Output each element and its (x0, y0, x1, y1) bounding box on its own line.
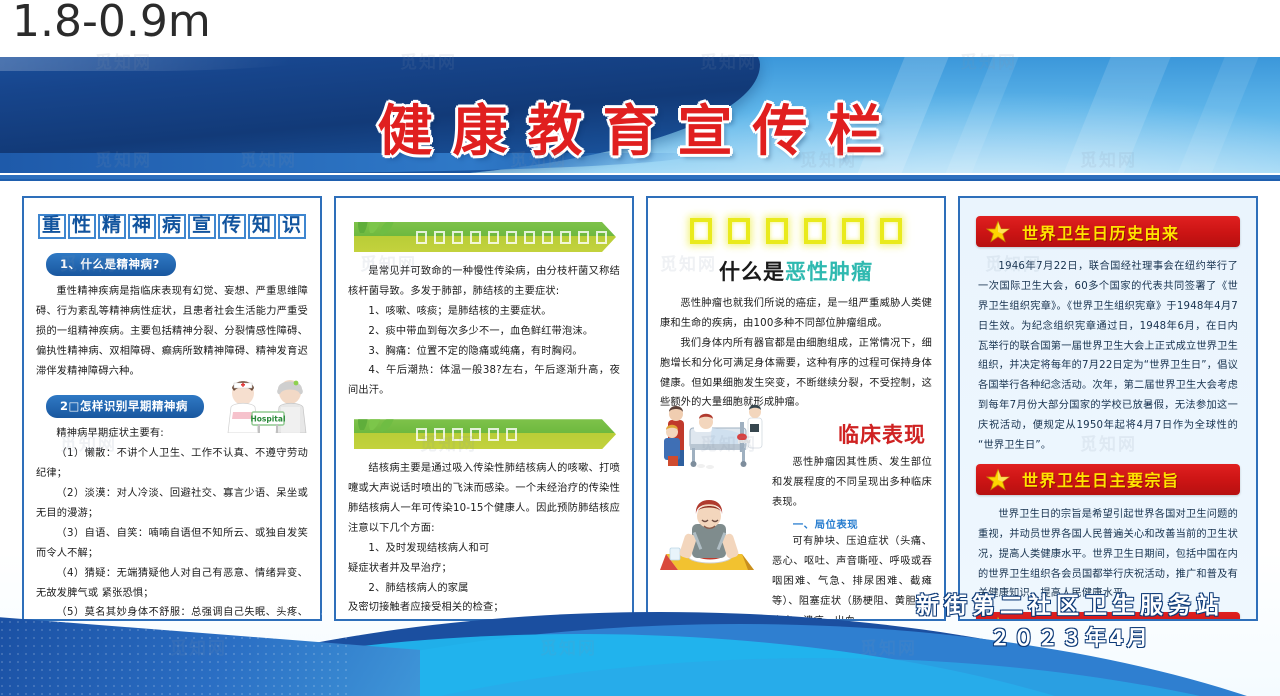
yellow-tofu-heading (660, 218, 932, 244)
nurse-doctor-hospital-sign-illustration: Hospital (218, 371, 314, 433)
panel-world-health-day: 世界卫生日历史由来 1946年7月22日，联合国经社理事会在纽约举行了一次国际卫… (958, 196, 1258, 621)
tofu-glyph (434, 231, 445, 244)
banner-label: 世界卫生日主要宗旨 (1022, 467, 1180, 491)
leaf-icon (350, 207, 406, 237)
clinical-intro: 恶性肿瘤因其性质、发生部位和发展程度的不同呈现出多种临床表现。 (772, 453, 932, 513)
tofu-glyph-yellow (690, 218, 712, 244)
tofu-glyph (524, 231, 535, 244)
title-char: 性 (68, 214, 96, 239)
title-char: 重 (38, 214, 66, 239)
title-char: 识 (278, 214, 306, 239)
panel-mental-illness: 重性精神病宣传知识 1、什么是精神病? 重性精神疾病是指临床表现有幻觉、妄想、严… (22, 196, 322, 621)
tofu-glyph (416, 231, 427, 244)
section-1-paragraph: 重性精神疾病是指临床表现有幻觉、妄想、严重思维障碍、行为紊乱等精神病性症状，且患… (36, 282, 308, 381)
title-char: 神 (128, 214, 156, 239)
title-prefix: 什么是 (719, 260, 785, 284)
tofu-glyph (452, 428, 463, 441)
tb-intro-paragraph: 是常见并可致命的一种慢性传染病，由分枝杆菌又称结核杆菌导致。多发于肺部，肺结核的… (348, 262, 620, 302)
tofu-glyph (488, 428, 499, 441)
tb-symptom-item: 2、痰中带血到每次多少不一，血色鲜红带泡沫。 (348, 322, 620, 342)
star-icon (986, 468, 1010, 492)
tofu-glyph (452, 231, 463, 244)
tofu-glyph-yellow (804, 218, 826, 244)
symptom-item: （1）懒散：不讲个人卫生、工作不认真、不遵守劳动纪律； (36, 444, 308, 484)
panel-3-title: 什么是恶性肿瘤 (660, 256, 932, 286)
tofu-glyph (488, 231, 499, 244)
dimension-caption: 1.8-0.9m (12, 0, 211, 47)
title-char: 宣 (188, 214, 216, 239)
swoosh-gloss (0, 57, 460, 71)
tofu-glyph (506, 231, 517, 244)
title-char: 精 (98, 214, 126, 239)
title-char: 传 (218, 214, 246, 239)
red-banner-purpose: 世界卫生日主要宗旨 (976, 464, 1240, 495)
hospital-bedside-visit-illustration (654, 394, 766, 472)
green-banner-symptoms (354, 222, 616, 252)
tb-prevention-paragraph: 结核病主要是通过吸入传染性肺结核病人的咳嗽、打喷嚏或大声说话时喷出的飞沫而感染。… (348, 459, 620, 539)
banner-tofu-glyphs (416, 231, 607, 244)
title-accent: 恶性肿瘤 (785, 260, 873, 284)
red-banner-history: 世界卫生日历史由来 (976, 216, 1240, 247)
banner-label: 世界卫生日历史由来 (1022, 220, 1180, 244)
footer-organization: 新街第二社区卫生服务站 ２０２３年4月 (916, 586, 1224, 652)
symptom-item: （2）淡漠：对人冷淡、回避社交、寡言少语、呆坐或无目的漫游； (36, 484, 308, 524)
banner-tofu-glyphs (416, 428, 517, 441)
publication-date: ２０２３年4月 (916, 622, 1224, 652)
tofu-glyph (470, 428, 481, 441)
tb-prevention-item: 1、及时发现结核病人和可 (348, 539, 620, 559)
tofu-glyph (416, 428, 427, 441)
tofu-glyph (560, 231, 571, 244)
tofu-glyph (596, 231, 607, 244)
section-pill-identify-early-mental-illness: 2□怎样识别早期精神病 (46, 395, 204, 418)
title-char: 知 (248, 214, 276, 239)
tofu-glyph (470, 231, 481, 244)
symptom-item: （3）自语、自笑：喃喃自语但不知所云、或独自发笑而令人不解； (36, 524, 308, 564)
tumor-paragraph: 恶性肿瘤也就我们所说的癌症，是一组严重威胁人类健康和生命的疾病，由100多种不同… (660, 294, 932, 334)
panel-malignant-tumor: 什么是恶性肿瘤 恶性肿瘤也就我们所说的癌症，是一组严重威胁人类健康和生命的疾病，… (646, 196, 946, 621)
svg-text:Hospital: Hospital (250, 415, 285, 424)
tofu-glyph (542, 231, 553, 244)
section-pill-what-is-mental-illness: 1、什么是精神病? (46, 253, 176, 276)
tb-symptom-item: 1、咳嗽、咳痰；是肺结核的主要症状。 (348, 302, 620, 322)
star-icon (986, 220, 1010, 244)
tb-symptom-item: 4、午后潮热：体温一般38?左右，午后逐渐升高，夜间出汗。 (348, 361, 620, 401)
tb-symptom-item: 3、胸痛：位置不定的隐痛或纯痛，有时胸闷。 (348, 342, 620, 362)
tofu-glyph (506, 428, 517, 441)
tofu-glyph-yellow (728, 218, 750, 244)
health-education-board: 1.8-0.9m 健康教育宣传栏 重性精神病宣传知识 1、什么是精神病? 重性精… (0, 0, 1280, 696)
panel-1-title: 重性精神病宣传知识 (36, 214, 308, 239)
clinical-subhead-local: 一、局位表现 (772, 516, 932, 531)
tofu-glyph-yellow (842, 218, 864, 244)
tofu-glyph (578, 231, 589, 244)
organization-name: 新街第二社区卫生服务站 (916, 586, 1224, 620)
page-title: 健康教育宣传栏 (0, 86, 1280, 166)
tofu-glyph (434, 428, 445, 441)
green-banner-prevention (354, 419, 616, 449)
history-paragraph: 1946年7月22日，联合国经社理事会在纽约举行了一次国际卫生大会，60多个国家… (972, 257, 1244, 456)
panel-tuberculosis: 是常见并可致命的一种慢性传染病，由分枝杆菌又称结核杆菌导致。多发于肺部，肺结核的… (334, 196, 634, 621)
leaf-icon (350, 404, 406, 434)
patient-eating-meal-illustration (656, 498, 760, 584)
tofu-glyph-yellow (766, 218, 788, 244)
wave-dot-mesh (0, 610, 350, 696)
tofu-glyph-yellow (880, 218, 902, 244)
title-char: 病 (158, 214, 186, 239)
